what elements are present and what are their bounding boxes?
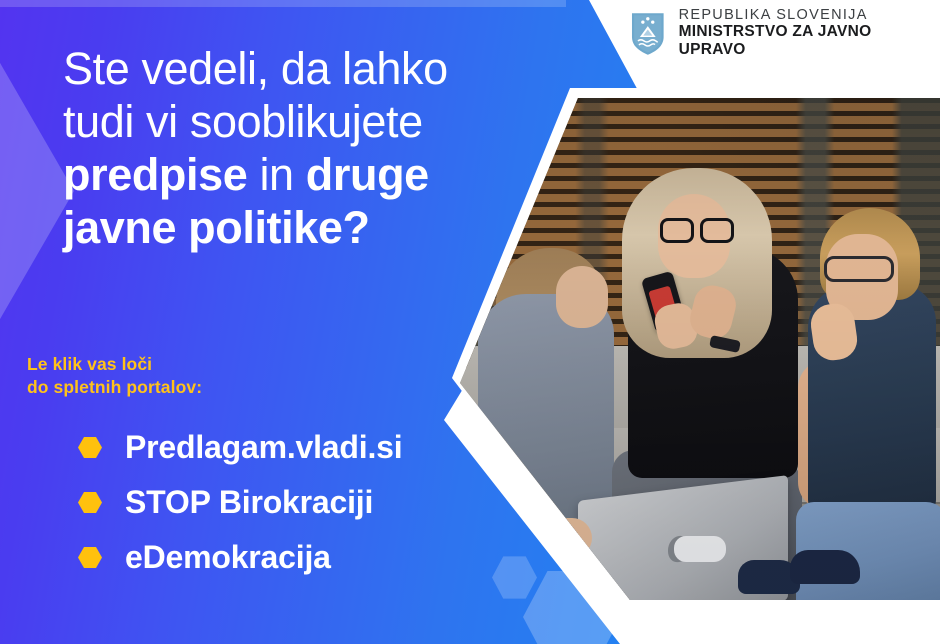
headline-line-3: predpise in druge [63, 148, 563, 201]
list-item[interactable]: eDemokracija [78, 530, 538, 585]
ministry-logo: REPUBLIKA SLOVENIJA MINISTRSTVO ZA JAVNO… [630, 7, 940, 58]
top-accent-strip [0, 0, 566, 7]
ministry-logo-text: REPUBLIKA SLOVENIJA MINISTRSTVO ZA JAVNO… [679, 7, 940, 58]
portal-list: Predlagam.vladi.si STOP Birokraciji eDem… [78, 420, 538, 585]
page-title: Ste vedeli, da lahko tudi vi sooblikujet… [63, 42, 563, 254]
headline-bold-druge: druge [306, 149, 429, 200]
headline-line-1: Ste vedeli, da lahko [63, 42, 563, 95]
portal-label: STOP Birokraciji [125, 484, 373, 521]
logo-line-ministry: MINISTRSTVO ZA JAVNO UPRAVO [679, 23, 940, 58]
hexagon-bullet-icon [78, 437, 102, 459]
portal-label: eDemokracija [125, 539, 331, 576]
hexagon-bullet-icon [78, 547, 102, 569]
list-item[interactable]: STOP Birokraciji [78, 475, 538, 530]
list-item[interactable]: Predlagam.vladi.si [78, 420, 538, 475]
headline-line-4: javne politike? [63, 201, 563, 254]
headline-line-2: tudi vi sooblikujete [63, 95, 563, 148]
promo-poster: REPUBLIKA SLOVENIJA MINISTRSTVO ZA JAVNO… [0, 0, 940, 644]
portal-label: Predlagam.vladi.si [125, 429, 402, 466]
slovenia-coat-of-arms-icon [630, 10, 666, 55]
headline-bold-javne-politike: javne politike? [63, 202, 370, 253]
kicker-line-2: do spletnih portalov: [27, 376, 202, 399]
hexagon-bullet-icon [78, 492, 102, 514]
logo-line-republic: REPUBLIKA SLOVENIJA [679, 7, 940, 23]
headline-bold-predpise: predpise [63, 149, 247, 200]
kicker-line-1: Le klik vas loči [27, 353, 202, 376]
kicker-text: Le klik vas loči do spletnih portalov: [27, 353, 202, 399]
headline-plain-in: in [247, 149, 305, 200]
